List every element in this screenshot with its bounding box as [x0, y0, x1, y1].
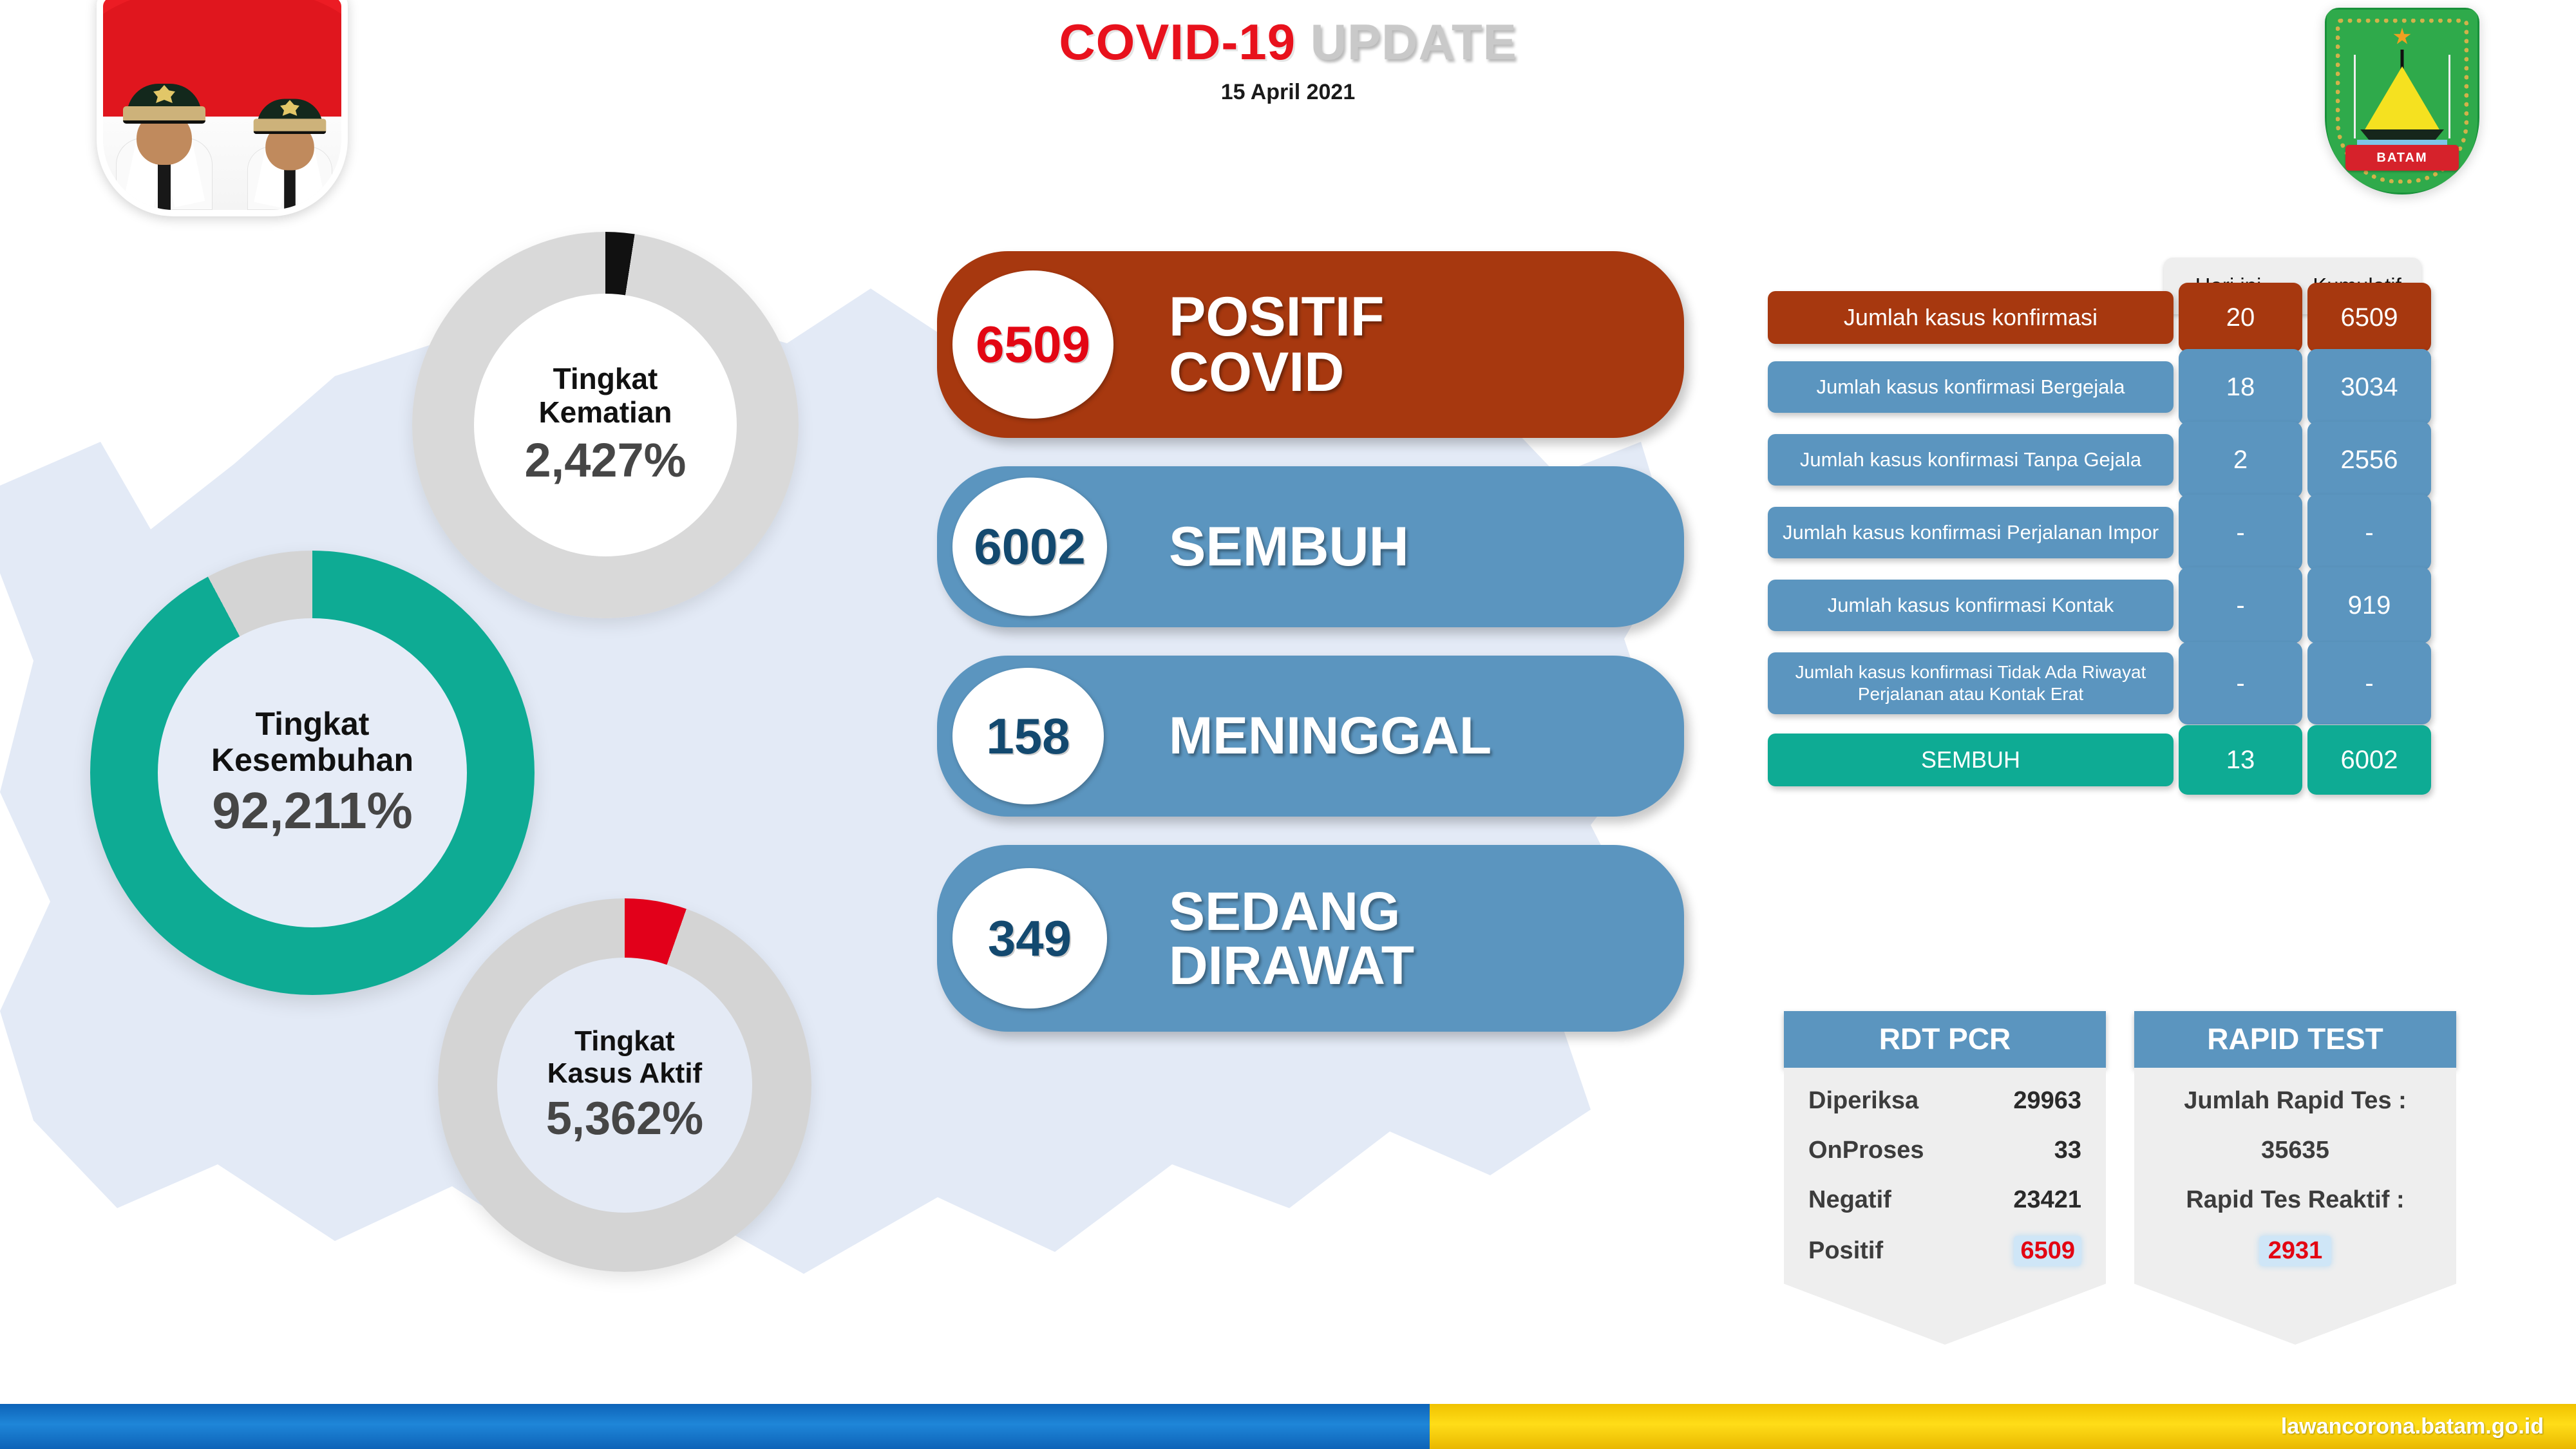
stat-pill-meninggal: 158 MENINGGAL	[937, 656, 1684, 817]
table-row: OnProses 33	[1808, 1137, 2081, 1164]
stat-label-line1: SEDANG	[1169, 884, 1414, 938]
table-row: Jumlah kasus konfirmasi Tidak Ada Riwaya…	[1768, 652, 2528, 724]
donut-label-line1: Tingkat	[553, 363, 658, 396]
table-row-label: Jumlah kasus konfirmasi Tidak Ada Riwaya…	[1768, 652, 2173, 714]
table-row: Jumlah kasus konfirmasi Tanpa Gejala2255…	[1768, 434, 2528, 498]
stat-label-line1: POSITIF	[1169, 289, 1384, 345]
stat-pill-sembuh: 6002 SEMBUH	[937, 466, 1684, 627]
donut-chart-tingkat-kasus-aktif: Tingkat Kasus Aktif 5,362%	[438, 898, 811, 1272]
table-body: Jumlah kasus konfirmasi206509Jumlah kasu…	[1768, 291, 2528, 804]
rdt-key: Positif	[1808, 1237, 1883, 1265]
rdt-key: Negatif	[1808, 1186, 1891, 1214]
table-row-label: Jumlah kasus konfirmasi Perjalanan Impor	[1768, 507, 2173, 558]
rapid-label-jumlah: Jumlah Rapid Tes :	[2159, 1087, 2432, 1115]
footer-website-url: lawancorona.batam.go.id	[2281, 1414, 2544, 1439]
table-cell-hari-ini: 13	[2179, 725, 2302, 795]
table-row-label: Jumlah kasus konfirmasi Kontak	[1768, 580, 2173, 631]
rapid-value-reaktif: 2931	[2259, 1236, 2332, 1266]
officer-figure	[247, 91, 332, 210]
batam-ribbon-label: BATAM	[2376, 151, 2427, 166]
table-row: Negatif 23421	[1808, 1186, 2081, 1214]
table-row: Jumlah kasus konfirmasi Bergejala183034	[1768, 361, 2528, 425]
table-cell-kumulatif: 919	[2307, 567, 2431, 643]
table-row-label: Jumlah kasus konfirmasi	[1768, 291, 2173, 344]
table-cell-kumulatif: -	[2307, 642, 2431, 724]
rdt-key: Diperiksa	[1808, 1087, 1918, 1115]
rapid-test-title: RAPID TEST	[2134, 1011, 2456, 1068]
stat-value: 6509	[976, 315, 1090, 374]
table-cell-kumulatif: 6002	[2307, 725, 2431, 795]
table-cell-hari-ini: 18	[2179, 349, 2302, 425]
table-row-label: SEMBUH	[1768, 734, 2173, 786]
donut-label-line2: Kasus Aktif	[547, 1057, 702, 1089]
rdt-key: OnProses	[1808, 1137, 1924, 1164]
table-row-label: Jumlah kasus konfirmasi Bergejala	[1768, 361, 2173, 413]
donut-label-line2: Kematian	[538, 396, 672, 430]
donut-label-line2: Kesembuhan	[211, 742, 413, 778]
rdt-pcr-title: RDT PCR	[1784, 1011, 2106, 1068]
table-row-label: Jumlah kasus konfirmasi Tanpa Gejala	[1768, 434, 2173, 486]
rapid-test-box: RAPID TEST Jumlah Rapid Tes : 35635 Rapi…	[2134, 1011, 2456, 1345]
indonesia-flag-background	[103, 0, 341, 210]
donut-value: 2,427%	[525, 434, 687, 488]
table-row: Jumlah kasus konfirmasi Kontak-919	[1768, 580, 2528, 643]
stat-value: 158	[986, 707, 1070, 766]
rdt-value: 29963	[2013, 1087, 2081, 1115]
stat-bubble: 6002	[952, 478, 1107, 616]
table-cell-hari-ini: 20	[2179, 283, 2302, 352]
footer-blue-band	[0, 1404, 1430, 1449]
table-row: Positif 6509	[1808, 1236, 2081, 1266]
table-cell-hari-ini: 2	[2179, 422, 2302, 498]
table-cell-kumulatif: -	[2307, 495, 2431, 571]
donut-label-line1: Tingkat	[256, 706, 370, 742]
donut-value: 5,362%	[546, 1093, 703, 1145]
summary-pills: 6509 POSITIF COVID 6002 SEMBUH 158 MENIN…	[937, 251, 1684, 1060]
donut-chart-tingkat-kesembuhan: Tingkat Kesembuhan 92,211%	[90, 551, 535, 995]
rdt-value-positif: 6509	[2014, 1236, 2081, 1266]
stat-label-line2: COVID	[1169, 345, 1384, 400]
batam-city-emblem: BATAM	[2325, 8, 2479, 194]
footer-yellow-band: lawancorona.batam.go.id	[1430, 1404, 2576, 1449]
table-cell-kumulatif: 6509	[2307, 283, 2431, 352]
stat-label-line1: SEMBUH	[1169, 519, 1409, 574]
stat-bubble: 158	[952, 668, 1104, 804]
stat-bubble: 6509	[952, 270, 1113, 419]
table-cell-kumulatif: 2556	[2307, 422, 2431, 498]
title-update: UPDATE	[1311, 14, 1517, 70]
stat-value: 6002	[974, 518, 1086, 576]
stat-label-line1: MENINGGAL	[1169, 710, 1492, 762]
stat-value: 349	[988, 909, 1072, 968]
report-date: 15 April 2021	[1059, 80, 1517, 105]
donut-value: 92,211%	[212, 782, 412, 840]
stat-pill-positif-covid: 6509 POSITIF COVID	[937, 251, 1684, 438]
table-row: SEMBUH136002	[1768, 734, 2528, 795]
table-cell-hari-ini: -	[2179, 642, 2302, 724]
table-row: Jumlah kasus konfirmasi206509	[1768, 291, 2528, 352]
rapid-label-reaktif: Rapid Tes Reaktif :	[2159, 1186, 2432, 1214]
table-row: Diperiksa 29963	[1808, 1087, 2081, 1115]
officer-figure	[116, 75, 213, 210]
footer-bar: lawancorona.batam.go.id	[0, 1404, 2576, 1449]
walikota-wakil-walikota-photo	[97, 0, 348, 216]
stat-pill-sedang-dirawat: 349 SEDANG DIRAWAT	[937, 845, 1684, 1032]
title-covid19: COVID-19	[1059, 14, 1296, 70]
rapid-value-jumlah: 35635	[2159, 1137, 2432, 1164]
table-cell-hari-ini: -	[2179, 495, 2302, 571]
page-title: COVID-19 UPDATE 15 April 2021	[1059, 17, 1517, 105]
rdt-value: 23421	[2013, 1186, 2081, 1214]
table-row: Jumlah kasus konfirmasi Perjalanan Impor…	[1768, 507, 2528, 571]
table-cell-hari-ini: -	[2179, 567, 2302, 643]
rdt-pcr-box: RDT PCR Diperiksa 29963 OnProses 33 Nega…	[1784, 1011, 2106, 1345]
donut-chart-tingkat-kematian: Tingkat Kematian 2,427%	[412, 232, 799, 618]
test-summary-boxes: RDT PCR Diperiksa 29963 OnProses 33 Nega…	[1784, 1011, 2531, 1345]
stat-bubble: 349	[952, 868, 1107, 1009]
table-cell-kumulatif: 3034	[2307, 349, 2431, 425]
rdt-value: 33	[2054, 1137, 2081, 1164]
stat-label-line2: DIRAWAT	[1169, 938, 1414, 992]
header: COVID-19 UPDATE 15 April 2021 BATAM	[0, 0, 2576, 193]
donut-label-line1: Tingkat	[574, 1025, 675, 1057]
